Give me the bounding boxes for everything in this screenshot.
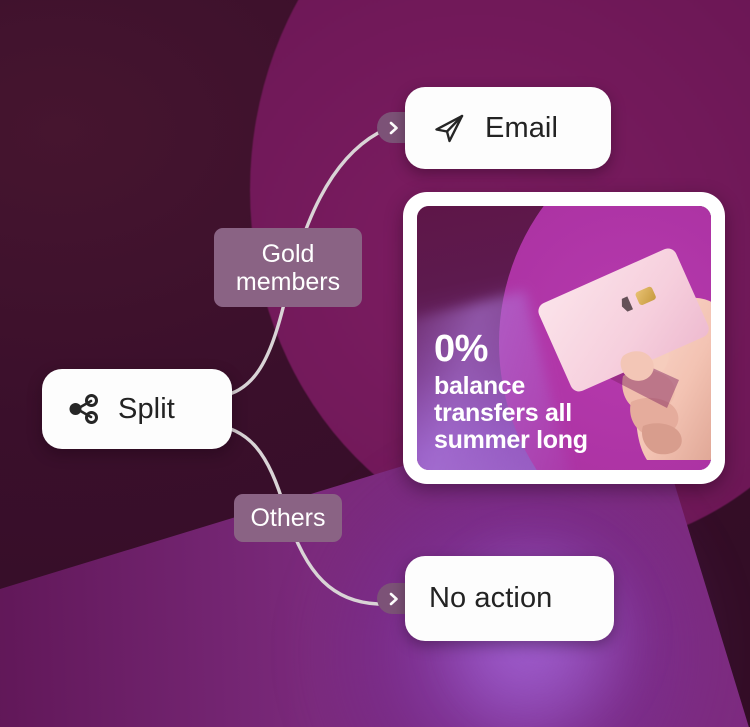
branch-condition-others-label: Others <box>250 504 325 532</box>
creative-headline: 0% <box>434 330 588 368</box>
node-split-label: Split <box>118 393 175 426</box>
node-email[interactable]: Email <box>405 87 611 169</box>
creative-body-line-1: balance <box>434 373 588 400</box>
node-email-label: Email <box>485 112 558 145</box>
share-split-icon <box>66 392 100 426</box>
flow-canvas: Split Email No action Gold members Other… <box>0 0 750 727</box>
node-no-action[interactable]: No action <box>405 556 614 641</box>
chevron-right-icon <box>387 120 401 136</box>
chevron-right-icon <box>387 591 401 607</box>
node-no-action-label: No action <box>429 582 552 615</box>
branch-condition-others[interactable]: Others <box>234 494 342 542</box>
branch-condition-gold-members[interactable]: Gold members <box>214 228 362 307</box>
send-paper-plane-icon <box>431 110 467 146</box>
creative-preview-card[interactable]: 0% balance transfers all summer long <box>403 192 725 484</box>
branch-condition-gold-members-label: Gold members <box>214 240 362 296</box>
creative-copy: 0% balance transfers all summer long <box>434 330 588 454</box>
node-split[interactable]: Split <box>42 369 232 449</box>
creative-body-line-2: transfers all <box>434 400 588 427</box>
creative-artwork: 0% balance transfers all summer long <box>417 206 711 470</box>
creative-body-line-3: summer long <box>434 427 588 454</box>
